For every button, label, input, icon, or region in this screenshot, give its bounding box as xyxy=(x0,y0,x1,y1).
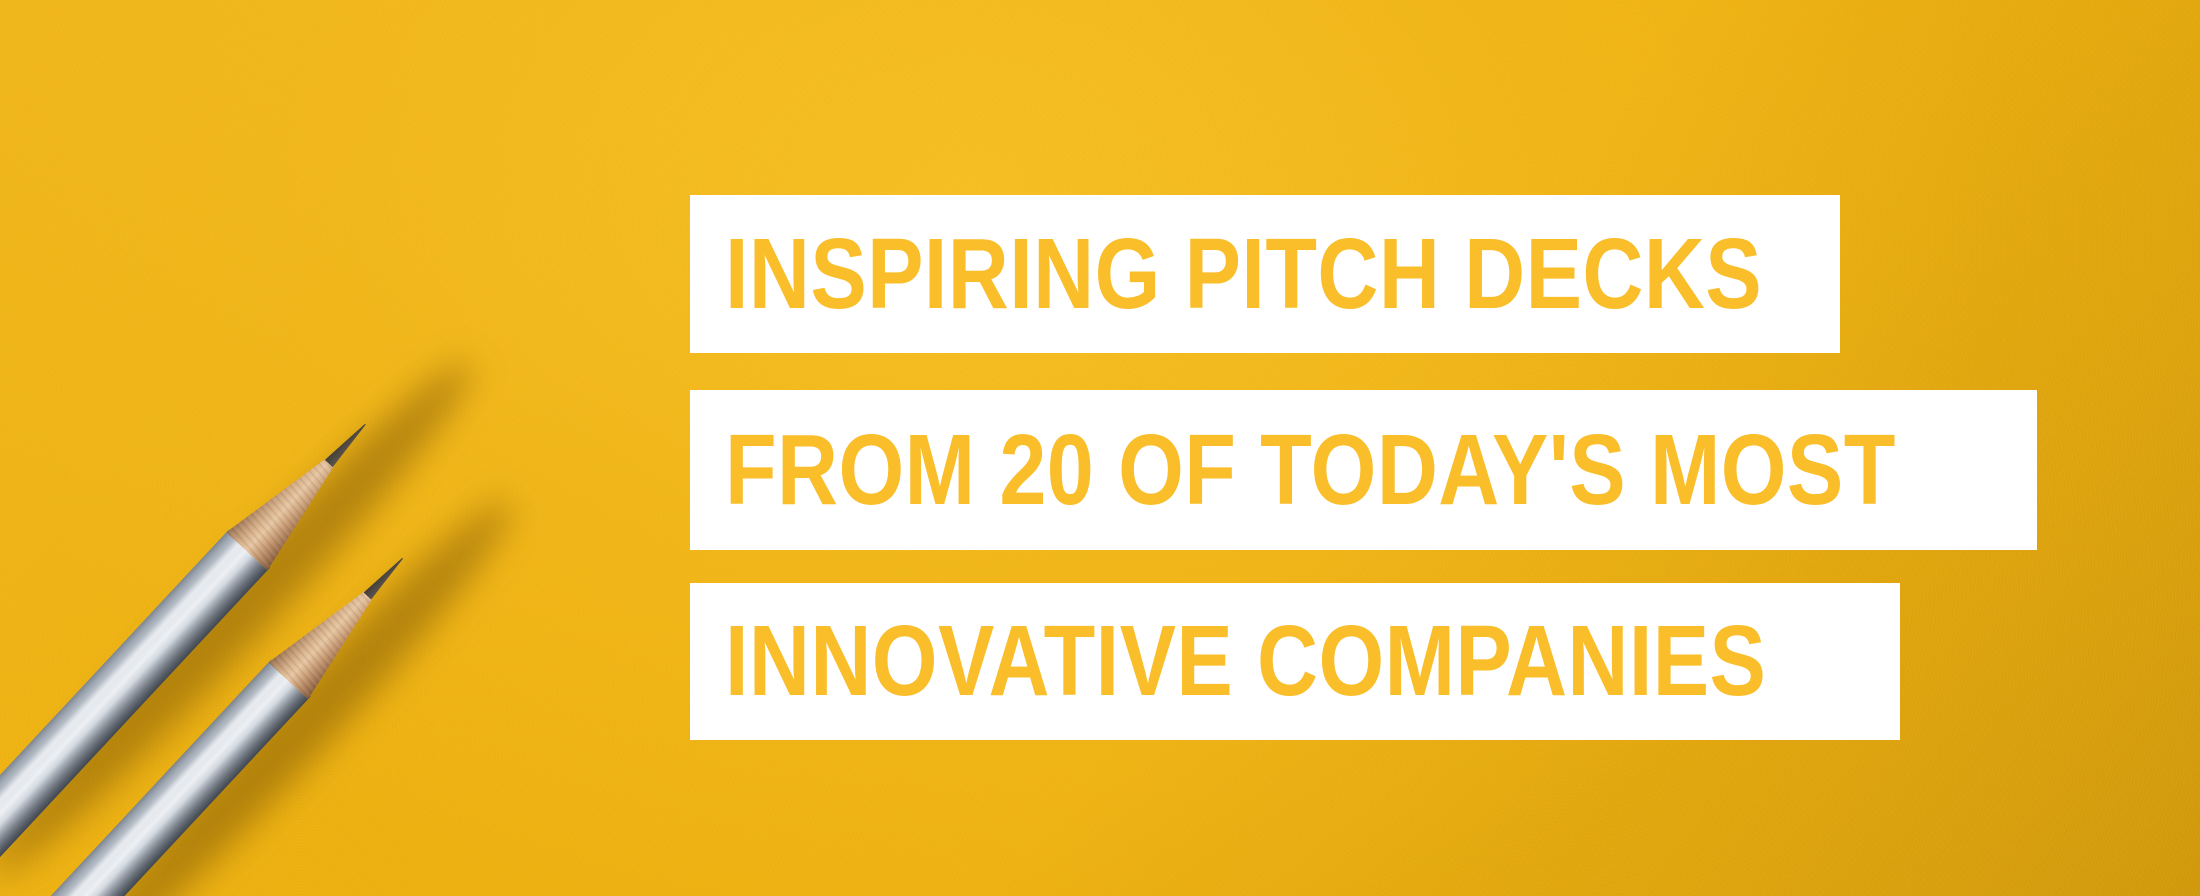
headline-line-3: INNOVATIVE COMPANIES xyxy=(725,604,1766,719)
headline-line-1: INSPIRING PITCH DECKS xyxy=(725,217,1762,332)
banner-canvas: INSPIRING PITCH DECKS FROM 20 OF TODAY'S… xyxy=(0,0,2200,896)
headline-band-1: INSPIRING PITCH DECKS xyxy=(690,195,1840,353)
headline-line-2: FROM 20 OF TODAY'S MOST xyxy=(725,413,1896,528)
headline-band-2: FROM 20 OF TODAY'S MOST xyxy=(690,390,2037,550)
headline-band-3: INNOVATIVE COMPANIES xyxy=(690,583,1900,740)
